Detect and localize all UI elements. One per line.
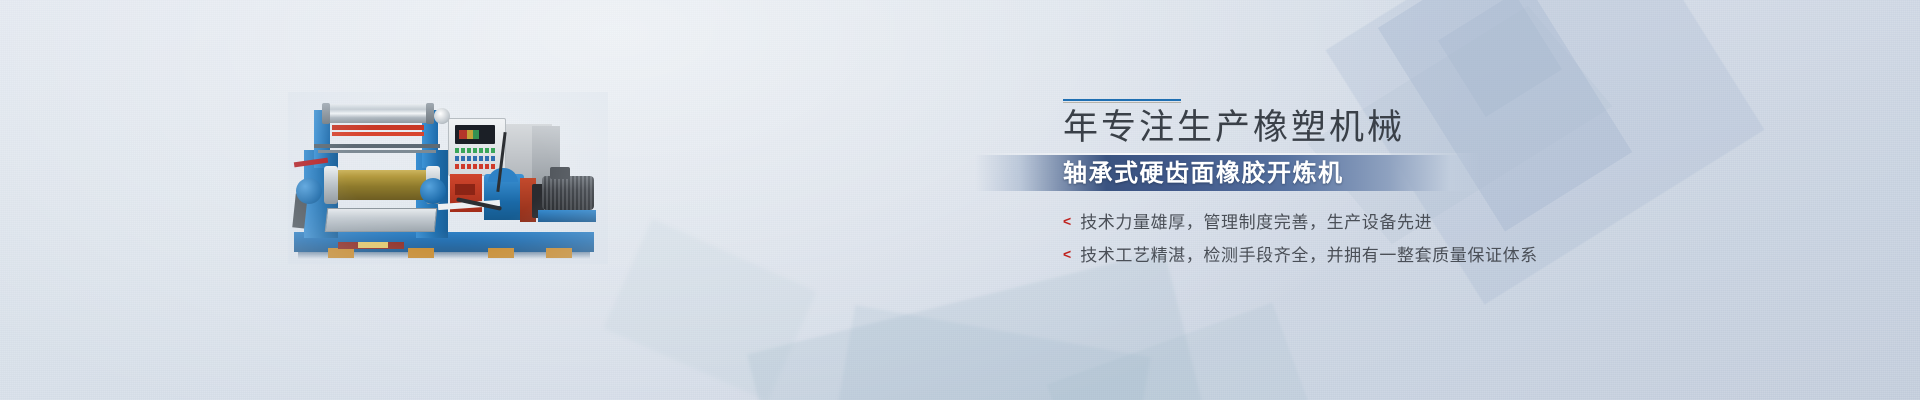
list-item: < 技术力量雄厚，管理制度完善，生产设备先进 — [1063, 204, 1538, 237]
product-image — [288, 92, 608, 264]
headline-rule — [1063, 99, 1181, 101]
list-item-label: 技术力量雄厚，管理制度完善，生产设备先进 — [1080, 208, 1432, 233]
decorative-polygon-icon — [1438, 0, 1562, 117]
product-name: 轴承式硬齿面橡胶开炼机 — [1063, 159, 1344, 188]
decorative-polygon-icon — [1047, 303, 1314, 400]
decorative-polygon-icon — [829, 305, 1150, 400]
chevron-left-icon: < — [1063, 214, 1071, 228]
promo-banner: 年专注生产橡塑机械 轴承式硬齿面橡胶开炼机 < 技术力量雄厚，管理制度完善，生产… — [0, 0, 1920, 400]
decorative-polygon-icon — [747, 250, 1203, 400]
decorative-polygon-icon — [603, 219, 816, 400]
decorative-polygon-icon — [1378, 0, 1632, 232]
headline-rule-secondary — [1063, 102, 1181, 103]
photo-vignette — [288, 92, 608, 264]
feature-list: < 技术力量雄厚，管理制度完善，生产设备先进 < 技术工艺精湛，检测手段齐全，并… — [1063, 204, 1538, 270]
list-item: < 技术工艺精湛，检测手段齐全，并拥有一整套质量保证体系 — [1063, 237, 1538, 270]
page-title: 年专注生产橡塑机械 — [1063, 106, 1405, 150]
list-item-label: 技术工艺精湛，检测手段齐全，并拥有一整套质量保证体系 — [1080, 241, 1538, 266]
chevron-left-icon: < — [1063, 247, 1071, 261]
